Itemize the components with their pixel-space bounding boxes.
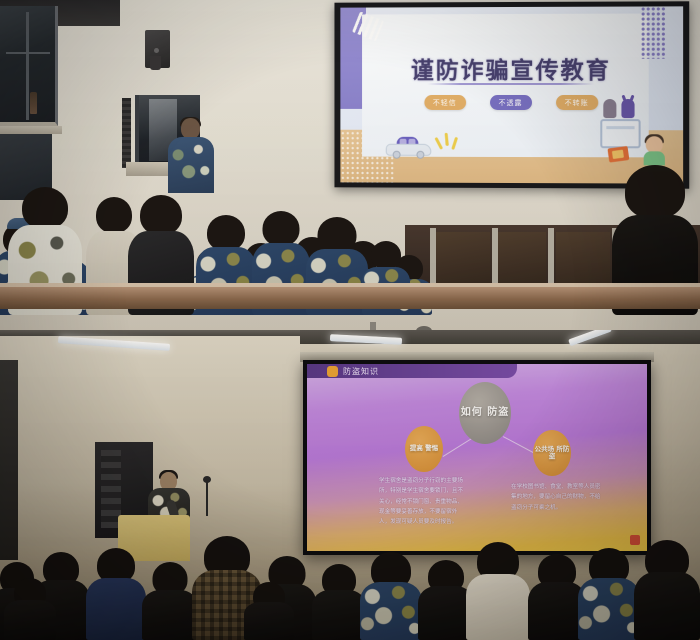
rack-vent [122, 98, 131, 168]
police-car-icon [386, 137, 432, 159]
window-sill [0, 126, 62, 134]
projection-screen-top: 谨防诈骗宣传教育 不轻信 不透露 不转账 [334, 1, 689, 188]
upper-desk-row [0, 287, 700, 309]
slide-header-badge-icon [327, 366, 338, 377]
slide-badge-2: 不透露 [490, 95, 532, 110]
slide-anti-fraud: 谨防诈骗宣传教育 不轻信 不透露 不转账 [340, 6, 683, 183]
slide-title-underline [427, 83, 594, 85]
lower-lecture-room: 防盗知识 如何 防盗 提高 警惕 公共场 所防盗 学生宿舍是盗窃分子行窃的主要场… [0, 330, 700, 640]
slide-badge-1: 不轻信 [424, 95, 466, 110]
diagram-node-right: 公共场 所防盗 [533, 430, 571, 476]
audience-lower [0, 490, 700, 640]
microphone-icon [203, 476, 211, 483]
window [0, 6, 58, 126]
diagram-node-left: 提高 警惕 [405, 426, 443, 472]
presenter-head [181, 118, 200, 139]
window-bottle [30, 92, 37, 114]
phishing-characters-icon [594, 99, 665, 165]
slide-header-label: 防盗知识 [343, 366, 379, 377]
lecture-hall-photo: 谨防诈骗宣传教育 不轻信 不透露 不转账 [0, 0, 700, 640]
speaker-mount [150, 56, 161, 70]
diagram-link-left [443, 438, 473, 457]
window-mullion [26, 12, 29, 120]
upper-lecture-room: 谨防诈骗宣传教育 不轻信 不透露 不转账 [0, 0, 700, 330]
slide-badge-3: 不转账 [556, 95, 598, 110]
slide-header-bar [307, 364, 517, 378]
motion-lines-icon [435, 131, 461, 153]
slide-title-top: 谨防诈骗宣传教育 [340, 51, 683, 85]
diagram-node-center: 如何 防盗 [459, 382, 511, 444]
